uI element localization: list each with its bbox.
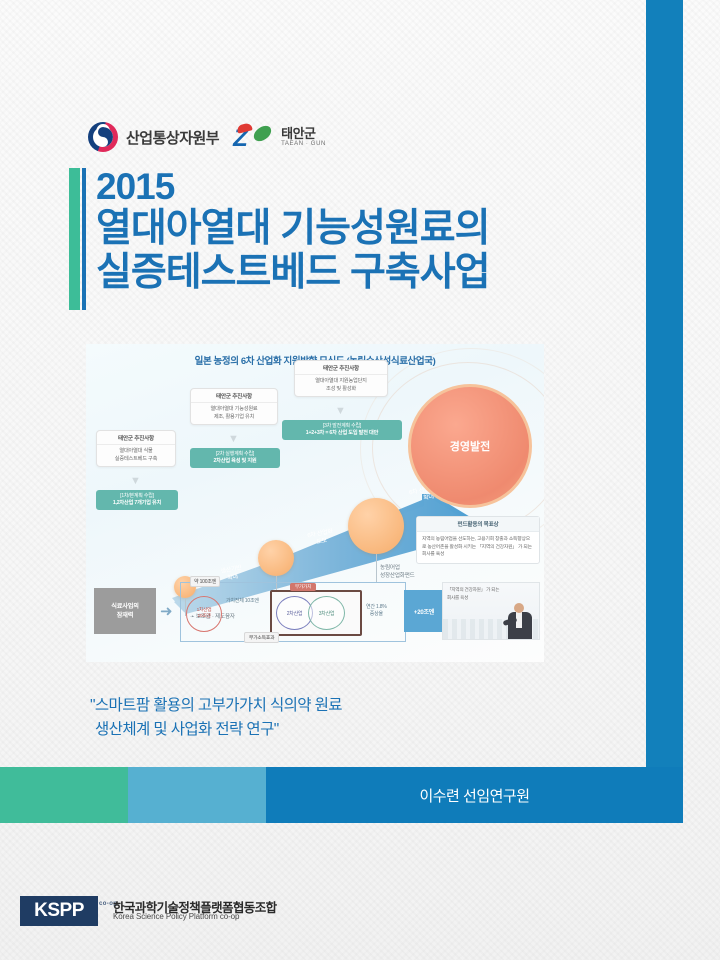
photo-caption: 「지역의 건강자원」 가 되는회사를 육성 — [447, 586, 533, 602]
teal-box-2: [2차 실행계획 수립] 2차산업 육성 및 지원 — [190, 448, 280, 468]
teal-box-1-line1: [1차/본계획 수립] — [98, 493, 176, 500]
added-income-tag: 부가소득효과 — [244, 632, 279, 643]
gray-box-2: 태안군 추진사항 열대아열대 기능성원료제조, 활용기업 유치 — [190, 388, 278, 425]
quote-line-2: 생산체계 및 사업화 전략 연구" — [90, 718, 560, 742]
big-circle-label: 경영발전 — [450, 438, 490, 454]
gray-box-1-head: 태안군 추진사항 — [97, 431, 175, 445]
fund-goal-box: 펀드활용의 목표상 지역의 농림어업을 선도하는, 고용기회 창출과 소득향상으… — [416, 516, 540, 564]
teal-box-3-line1: [3차 발전계획 수립] — [284, 423, 400, 430]
down-arrow-2: ▼ — [228, 434, 239, 445]
research-quote: "스마트팜 활용의 고부가가치 식의약 원료 생산체계 및 사업화 전략 연구" — [90, 694, 560, 742]
band-green — [0, 767, 128, 823]
gray-box-3: 태안군 추진사항 열대아열대 지원농업단지조성 및 활성화 — [294, 360, 388, 397]
total-tag: 약 100조엔 — [190, 576, 220, 587]
management-development-circle: 경영발전 — [408, 384, 532, 508]
gray-box-3-body: 열대아열대 지원농업단지조성 및 활성화 — [295, 375, 387, 396]
fund-box-body: 지역의 농림어업을 선도하는, 고용기회 창출과 소득향상으로 농산어촌을 활성… — [417, 532, 539, 563]
presenter-photo: 「지역의 건강자원」 가 되는회사를 육성 — [442, 582, 540, 640]
arrow-circle-mid — [258, 540, 294, 576]
diagram-figure: 일본 농정의 6차 산업화 지원방향 모식도 (농림수산성식료산업국) 생산기반… — [86, 344, 544, 662]
title-year: 2015 — [96, 166, 616, 207]
down-arrow-3: ▼ — [335, 406, 346, 417]
potential-block: 식료사업의잠재력 — [94, 588, 156, 634]
right-accent-stripe — [646, 0, 683, 790]
growth-rate-label: 연간 1.8%증상율 — [366, 604, 387, 618]
gray-box-2-head: 태안군 추진사항 — [191, 389, 277, 403]
page-title: 2015 열대아열대 기능성원료의 실증테스트베드 구축사업 — [96, 166, 616, 295]
title-accent-bars — [69, 168, 86, 310]
fund-box-head: 펀드활용의 목표상 — [417, 517, 539, 532]
lead-label-3: 농림어업성장산업화펀드 — [380, 564, 415, 581]
teal-box-2-line2: 2차산업 육성 및 지원 — [192, 458, 278, 465]
taean-gun-logo: Z 태안군 TAEAN · GUN — [233, 123, 326, 151]
gray-box-1: 태안군 추진사항 열대아열대 식물실증테스트베드 구축 — [96, 430, 176, 467]
taean-gun-icon: Z — [233, 123, 273, 151]
diagram-bottom-strip: 식료사업의잠재력 ➜ 약 100조엔 1차산업10조엔 가치전체 10조엔 부가… — [94, 582, 434, 640]
result-block: +20조엔 — [404, 590, 444, 632]
gray-box-2-body: 열대아열대 기능성원료제조, 활용기업 유치 — [191, 403, 277, 424]
county-name-kr: 태안군 — [281, 127, 326, 141]
footer-name-en: Korea Science Policy Platform co-op — [113, 912, 239, 921]
quote-line-1: "스마트팜 활용의 고부가가치 식의약 원료 — [90, 697, 342, 714]
gray-box-3-head: 태안군 추진사항 — [295, 361, 387, 375]
tertiary-industry-circle: 3차산업 — [308, 596, 345, 630]
ministry-logo: 산업통상자원부 — [88, 122, 219, 152]
person-figure-icon — [507, 603, 533, 639]
leader-line-3 — [376, 554, 377, 582]
value-add-label: 가치전체 10조엔 — [226, 598, 259, 605]
gray-box-1-body: 열대아열대 식물실증테스트베드 구축 — [97, 445, 175, 466]
footer: KSPP co-op 한국과학기술정책플랫폼협동조합 Korea Science… — [0, 880, 720, 960]
kspp-logo-text: KSPP — [34, 900, 84, 922]
teal-box-1: [1차/본계획 수립] 1,2차산업 7개기업 유치 — [96, 490, 178, 510]
title-line-2: 실증테스트베드 구축사업 — [96, 251, 616, 295]
band-light-blue — [128, 767, 266, 823]
author-name: 이수련 선임연구원 — [266, 767, 683, 823]
slide-page: 산업통상자원부 Z 태안군 TAEAN · GUN 2015 열대아열대 기능성… — [0, 0, 720, 960]
teal-box-3: [3차 발전계획 수립] 1+2+3차 = 6차 산업 도입 발전 대안 — [282, 420, 402, 440]
taeguk-icon — [88, 122, 118, 152]
value-add-badge: 부가가치 — [290, 583, 316, 591]
right-arrow-icon: ➜ — [160, 604, 173, 619]
teal-box-1-line2: 1,2차산업 7개기업 유치 — [98, 500, 176, 507]
county-name-en: TAEAN · GUN — [281, 141, 326, 147]
teal-box-3-line2: 1+2+3차 = 6차 산업 도입 발전 대안 — [284, 430, 400, 437]
ministry-name: 산업통상자원부 — [126, 127, 219, 148]
header-logos: 산업통상자원부 Z 태안군 TAEAN · GUN — [88, 114, 326, 160]
primary-industry-circle: 1차산업10조엔 — [186, 596, 222, 632]
teal-box-2-line1: [2차 실행계획 수립] — [192, 451, 278, 458]
down-arrow-1: ▼ — [130, 476, 141, 487]
title-line-1: 열대아열대 기능성원료의 — [96, 207, 616, 251]
kspp-logo: KSPP — [20, 896, 98, 926]
